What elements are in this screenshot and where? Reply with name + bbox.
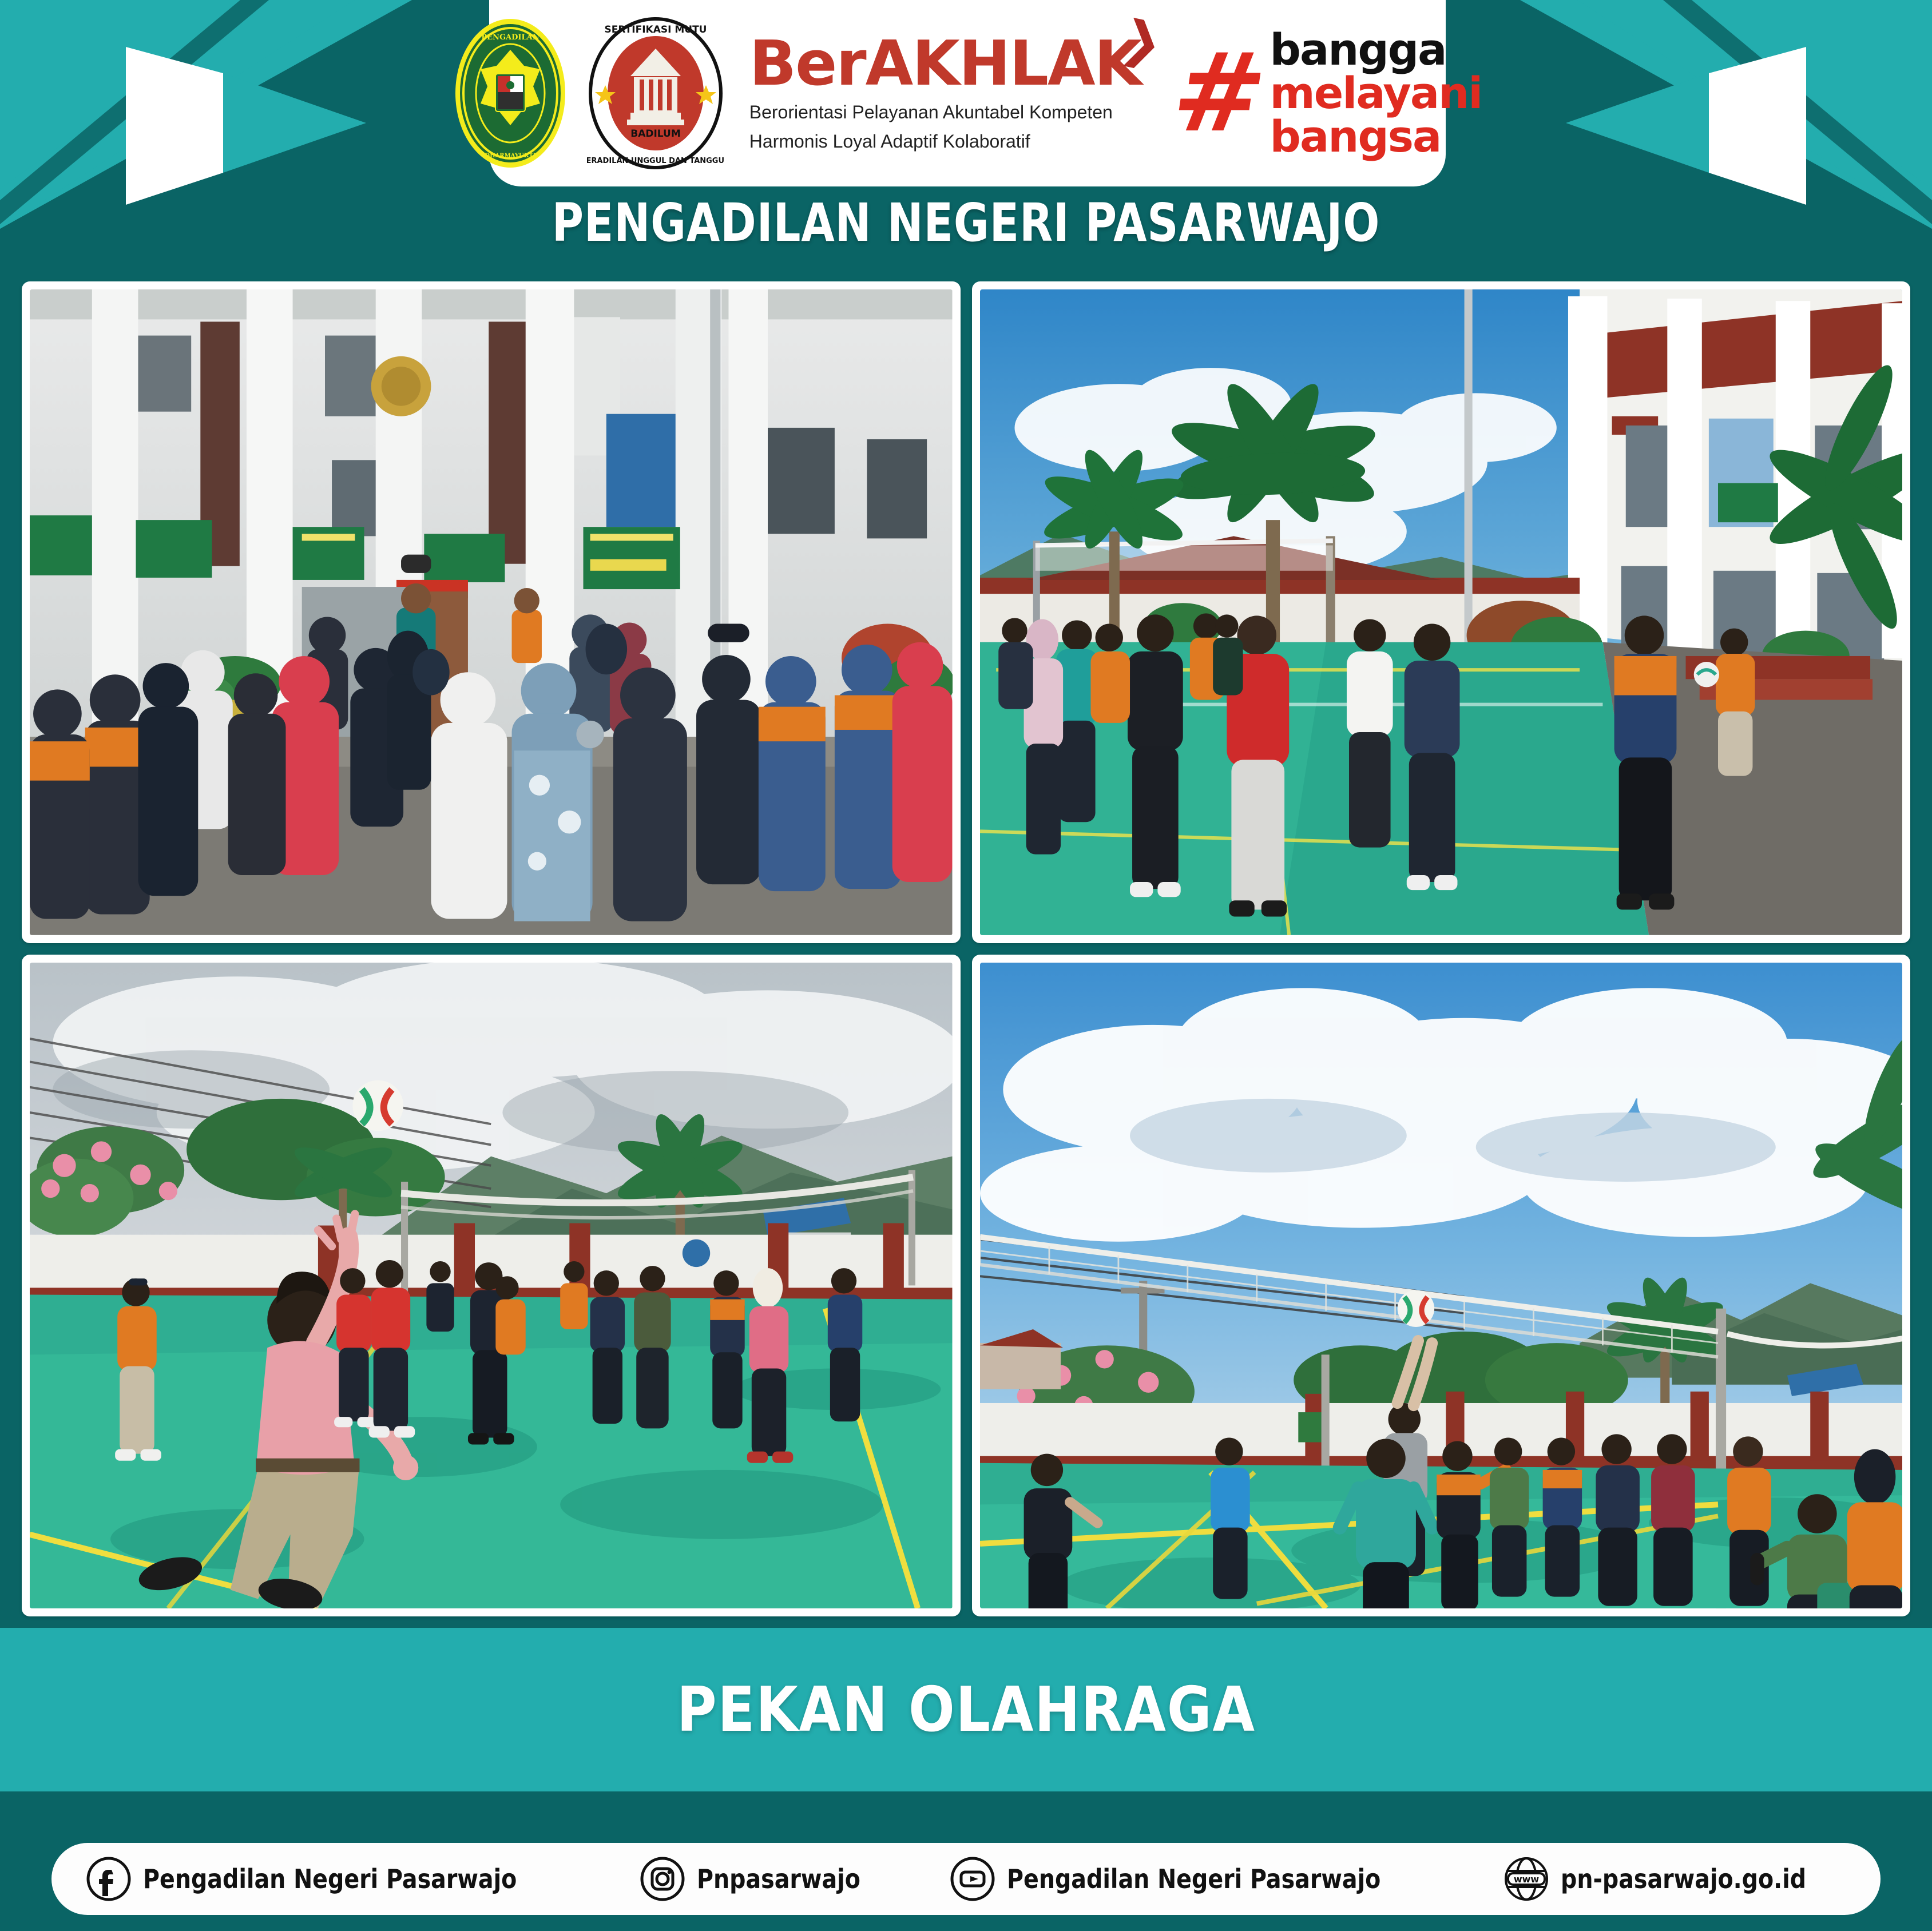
photo-volleyball-serve xyxy=(30,963,953,1608)
svg-text:www: www xyxy=(1514,1874,1540,1885)
berakhlak-tagline-line1: Berorientasi Pelayanan Akuntabel Kompete… xyxy=(749,101,1141,124)
footer-social-bar: Pengadilan Negeri Pasarwajo Pnpasarwajo … xyxy=(51,1843,1881,1915)
website-label: pn-pasarwajo.go.id xyxy=(1561,1864,1806,1894)
footer-item-facebook[interactable]: Pengadilan Negeri Pasarwajo xyxy=(86,1856,578,1902)
svg-text:PENGADILAN: PENGADILAN xyxy=(481,33,539,42)
photo-briefing-court-building-image xyxy=(30,289,953,935)
page-title: PENGADILAN NEGERI PASARWAJO xyxy=(174,189,1758,256)
berakhlak-wordmark: BerAKHLAK❯ xyxy=(749,33,1141,95)
bangga-melayani-bangsa-lockup: # bangga melayani bangsa xyxy=(1174,28,1482,158)
instagram-label: Pnpasarwajo xyxy=(697,1864,860,1894)
logo-pengadilan-seal-slot: PENGADILAN DHARMAYUKTI xyxy=(453,17,568,170)
berakhlak-swoosh-icon: ❯ xyxy=(1117,13,1166,69)
facebook-icon xyxy=(86,1856,132,1902)
photo-frame-3 xyxy=(22,955,961,1616)
berakhlak-tagline-line2: Harmonis Loyal Adaptif Kolaboratif xyxy=(749,130,1141,153)
logo-band: PENGADILAN DHARMAYUKTI BADILUM SERTIFI xyxy=(489,0,1446,186)
hashtag-icon: # xyxy=(1168,50,1272,137)
sertifikasi-mutu-badilum-seal-icon: BADILUM SERTIFIKASI MUTU PERADILAN UNGGU… xyxy=(587,17,724,170)
youtube-label: Pengadilan Negeri Pasarwajo xyxy=(1007,1864,1380,1894)
instagram-icon xyxy=(640,1856,685,1902)
caption-banner: PEKAN OLAHRAGA xyxy=(0,1628,1932,1791)
footer-item-website[interactable]: www pn-pasarwajo.go.id xyxy=(1503,1856,1846,1902)
footer-item-youtube[interactable]: Pengadilan Negeri Pasarwajo xyxy=(950,1856,1442,1902)
bangga-line-2: melayani xyxy=(1270,71,1482,115)
berakhlak-lockup: BerAKHLAK❯ Berorientasi Pelayanan Akunta… xyxy=(749,33,1141,153)
youtube-icon xyxy=(950,1856,995,1902)
photo-volleyball-match-image xyxy=(980,963,1903,1608)
photo-volleyball-match xyxy=(980,963,1903,1608)
photo-briefing-court-building xyxy=(30,289,953,935)
bangga-line-1: bangga xyxy=(1270,28,1482,71)
pengadilan-negeri-pasarwajo-seal-icon: PENGADILAN DHARMAYUKTI xyxy=(453,17,568,170)
globe-www-icon: www xyxy=(1503,1856,1549,1902)
photo-warmup-courtyard xyxy=(980,289,1903,935)
photo-grid xyxy=(22,281,1910,1614)
photo-frame-2 xyxy=(972,281,1911,943)
caption-text: PEKAN OLAHRAGA xyxy=(677,1674,1256,1746)
photo-frame-4 xyxy=(972,955,1911,1616)
svg-text:SERTIFIKASI MUTU: SERTIFIKASI MUTU xyxy=(604,24,707,35)
facebook-label: Pengadilan Negeri Pasarwajo xyxy=(143,1864,517,1894)
svg-text:BADILUM: BADILUM xyxy=(630,128,681,140)
photo-warmup-courtyard-image xyxy=(980,289,1903,935)
footer-item-instagram[interactable]: Pnpasarwajo xyxy=(640,1856,887,1902)
svg-text:PERADILAN UNGGUL DAN TANGGUH: PERADILAN UNGGUL DAN TANGGUH xyxy=(587,157,724,165)
bangga-line-3: bangsa xyxy=(1270,115,1482,158)
svg-text:DHARMAYUKTI: DHARMAYUKTI xyxy=(485,153,536,159)
bangga-lines: bangga melayani bangsa xyxy=(1270,28,1482,158)
photo-frame-1 xyxy=(22,281,961,943)
logo-sertifikasi-mutu-slot: BADILUM SERTIFIKASI MUTU PERADILAN UNGGU… xyxy=(587,17,724,170)
poster-root: PENGADILAN DHARMAYUKTI BADILUM SERTIFI xyxy=(0,0,1932,1931)
photo-volleyball-serve-image xyxy=(30,963,953,1608)
